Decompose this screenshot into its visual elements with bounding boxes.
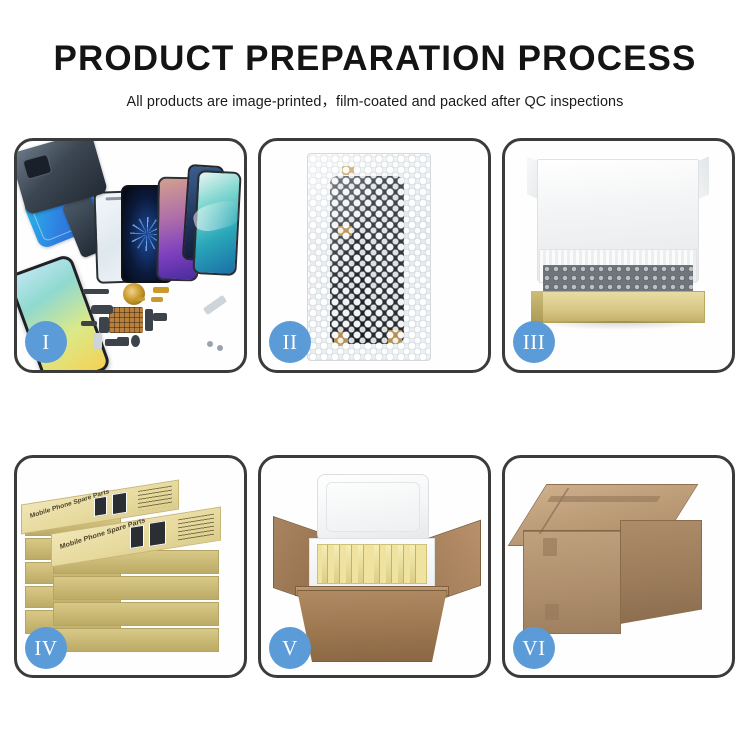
spare-part-icon: [91, 305, 113, 314]
process-step-panel-3[interactable]: III: [502, 138, 735, 373]
kraft-tray-icon: [531, 291, 705, 323]
packing-label-icon: [545, 604, 559, 620]
box-artwork-swatch-icon: [112, 492, 127, 515]
spare-part-icon: [135, 297, 145, 301]
packing-tape-icon: [547, 496, 661, 502]
kraft-box-side-icon: [53, 576, 219, 600]
bubble-wrapped-contents-icon: [543, 265, 693, 293]
spare-part-icon: [153, 287, 169, 293]
step-badge-2: II: [269, 321, 311, 363]
carton-side-face-icon: [620, 520, 702, 624]
teal-gradient-phone-icon: [192, 170, 241, 276]
box-spec-lines-icon: [178, 514, 214, 542]
spare-part-icon: [131, 335, 140, 347]
bubble-wrap-bag-icon: [307, 153, 431, 361]
spare-part-icon: [105, 339, 119, 346]
spare-part-icon: [93, 333, 102, 349]
outer-carton-icon: [297, 590, 447, 662]
step-badge-1: I: [25, 321, 67, 363]
page-subtitle: All products are image-printed，film-coat…: [0, 90, 750, 111]
process-step-panel-1[interactable]: I: [14, 138, 247, 373]
process-step-panel-4[interactable]: Mobile Phone Spare Parts Mobile Phone Sp…: [14, 455, 247, 678]
packed-kraft-boxes-icon: [317, 544, 427, 584]
kraft-box-side-icon: [53, 602, 219, 626]
packing-label-icon: [543, 538, 557, 556]
step-badge-5: V: [269, 627, 311, 669]
screw-icon: [217, 345, 223, 351]
chip-grid-part-icon: [109, 307, 143, 333]
screw-icon: [207, 341, 213, 347]
process-step-panel-2[interactable]: II: [258, 138, 491, 373]
spare-part-icon: [145, 309, 153, 331]
process-step-panel-6[interactable]: VI: [502, 455, 735, 678]
drop-shadow: [535, 321, 703, 330]
page-title: PRODUCT PREPARATION PROCESS: [0, 41, 750, 78]
box-artwork-swatch-icon: [149, 520, 166, 547]
spare-part-icon: [83, 289, 109, 294]
carton-front-face-icon: [523, 530, 621, 634]
plastic-sheen-icon: [308, 154, 430, 360]
tweezers-icon: [203, 295, 227, 315]
box-spec-lines-icon: [138, 486, 172, 511]
step-badge-4: IV: [25, 627, 67, 669]
page-header: PRODUCT PREPARATION PROCESS All products…: [0, 0, 750, 111]
kraft-tray-side-icon: [531, 291, 543, 323]
carton-seam-icon: [523, 530, 621, 532]
box-artwork-swatch-icon: [94, 496, 107, 517]
spare-part-icon: [151, 297, 163, 302]
process-step-panel-5[interactable]: V: [258, 455, 491, 678]
step-badge-6: VI: [513, 627, 555, 669]
foam-box-lid-icon: [317, 474, 429, 542]
copper-coil-part-icon: [123, 283, 145, 305]
spare-part-icon: [99, 317, 109, 333]
spare-part-icon: [81, 321, 97, 326]
box-artwork-swatch-icon: [130, 525, 144, 549]
process-steps-grid: I II: [14, 138, 736, 678]
product-preparation-process-page: PRODUCT PREPARATION PROCESS All products…: [0, 0, 750, 750]
step-badge-3: III: [513, 321, 555, 363]
spare-part-icon: [153, 313, 167, 321]
kraft-box-side-icon: [53, 628, 219, 652]
